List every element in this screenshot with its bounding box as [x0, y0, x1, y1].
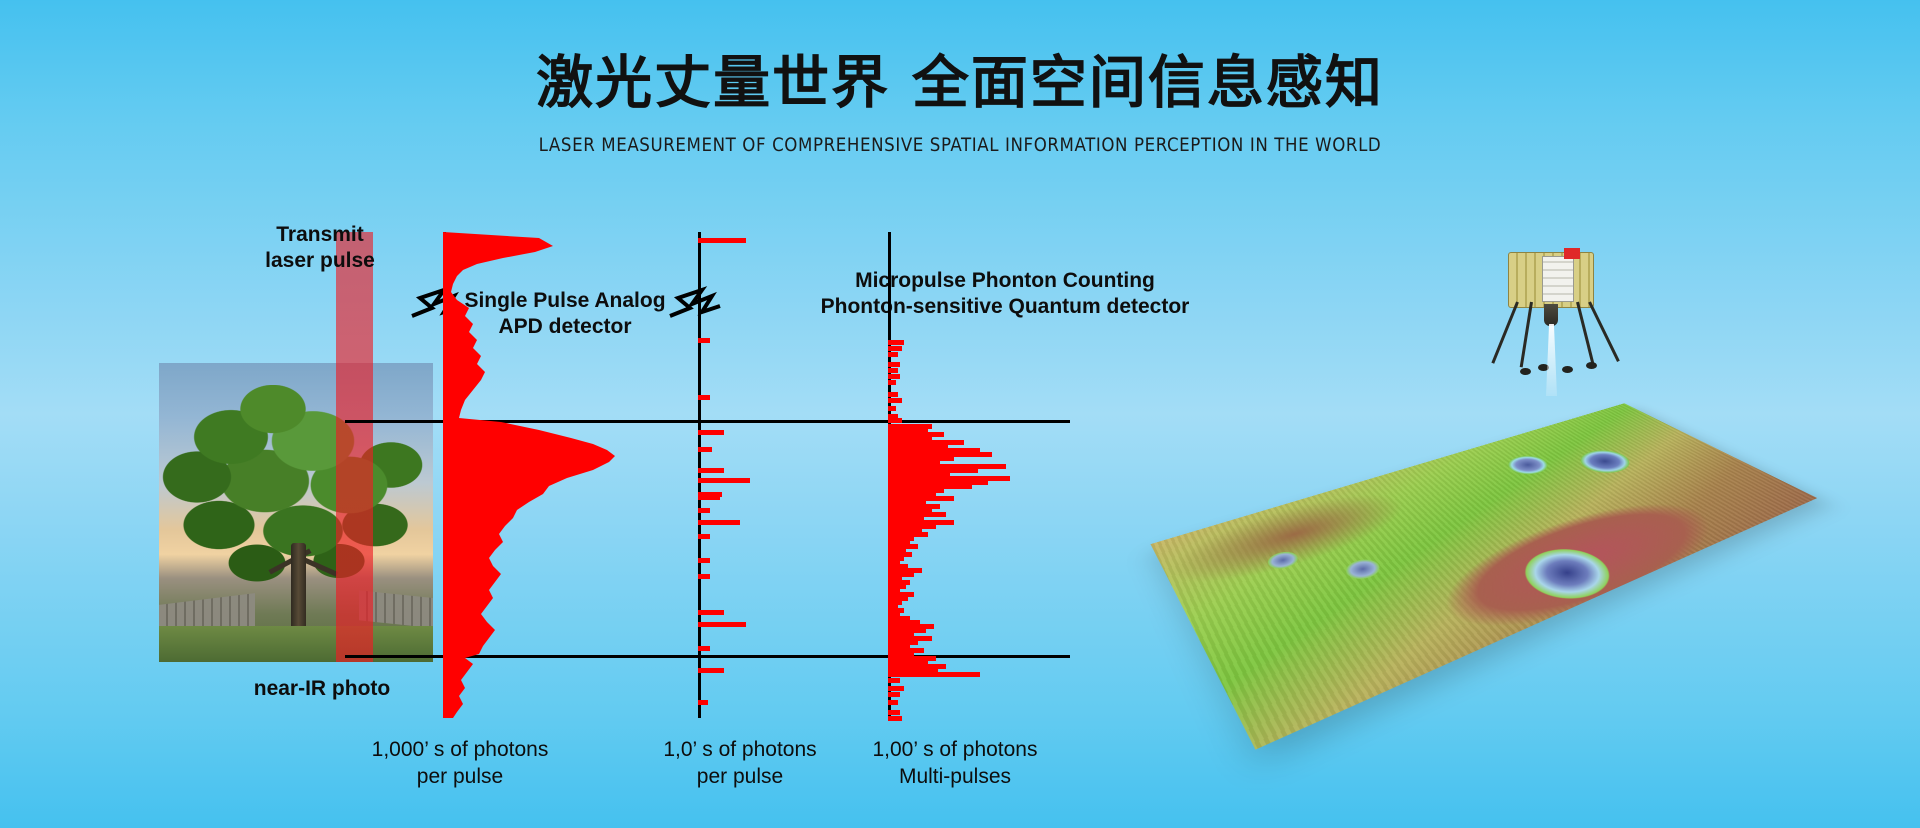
photon-return-bar	[888, 398, 902, 403]
photon-return-bar	[698, 700, 708, 705]
photon-return-bar	[888, 340, 904, 345]
photon-return-bar	[698, 574, 710, 579]
lander-panel	[1542, 256, 1574, 302]
photon-return-bar	[698, 622, 746, 627]
photon-return-bar	[888, 352, 898, 357]
photon-return-bar	[888, 716, 902, 721]
photon-return-bar	[888, 678, 900, 683]
lander-leg	[1491, 301, 1519, 363]
photon-return-bar	[698, 646, 710, 651]
photon-return-bar	[888, 672, 980, 677]
caption-sparse-photons: 1,0’ s of photons per pulse	[620, 736, 860, 791]
photon-return-bar	[698, 338, 710, 343]
photon-return-bar	[888, 380, 896, 385]
lander-flag-icon	[1564, 248, 1580, 259]
lidar-figure: Transmit laser pulse near-IR photo Singl…	[0, 0, 1150, 828]
photon-return-bar	[888, 392, 898, 397]
lander-foot	[1586, 362, 1597, 369]
photon-return-bar	[698, 668, 724, 673]
lidar-terrain-scene	[1160, 230, 1920, 730]
photon-return-bar	[698, 508, 710, 513]
photon-return-bar	[698, 468, 724, 473]
photon-return-bar	[698, 238, 746, 243]
lander-foot	[1562, 366, 1573, 373]
photon-return-bar	[698, 610, 724, 615]
photon-return-bar	[888, 346, 902, 351]
terrain-elevation-model	[1150, 403, 1817, 749]
photon-return-bar	[888, 406, 896, 411]
photon-return-bar	[888, 374, 900, 379]
lander-nozzle	[1544, 304, 1558, 326]
photon-return-bar	[698, 395, 710, 400]
lander-leg	[1588, 301, 1620, 362]
photon-return-bar	[698, 447, 712, 452]
photon-return-bar	[888, 710, 900, 715]
photon-return-bar	[888, 368, 898, 373]
photon-return-bar	[888, 418, 902, 423]
photon-return-bar	[888, 700, 898, 705]
lander-exhaust-plume	[1546, 324, 1557, 396]
photon-return-bar	[888, 686, 904, 691]
caption-analog-photons: 1,000’ s of photons per pulse	[335, 736, 585, 791]
photon-return-bar	[698, 558, 710, 563]
lander-foot	[1520, 368, 1531, 375]
caption-multipulse-photons: 1,00’ s of photons Multi-pulses	[830, 736, 1080, 791]
photon-return-bar	[888, 362, 900, 367]
photon-return-bar	[698, 478, 750, 483]
photon-return-bar	[698, 534, 710, 539]
lander-leg	[1520, 302, 1533, 368]
photon-return-bar	[698, 520, 740, 525]
lunar-lander	[1490, 252, 1610, 382]
photon-return-bar	[698, 495, 720, 500]
photon-return-bar	[698, 430, 724, 435]
photon-return-bar	[888, 692, 900, 697]
analog-apd-waveform	[0, 0, 1150, 828]
